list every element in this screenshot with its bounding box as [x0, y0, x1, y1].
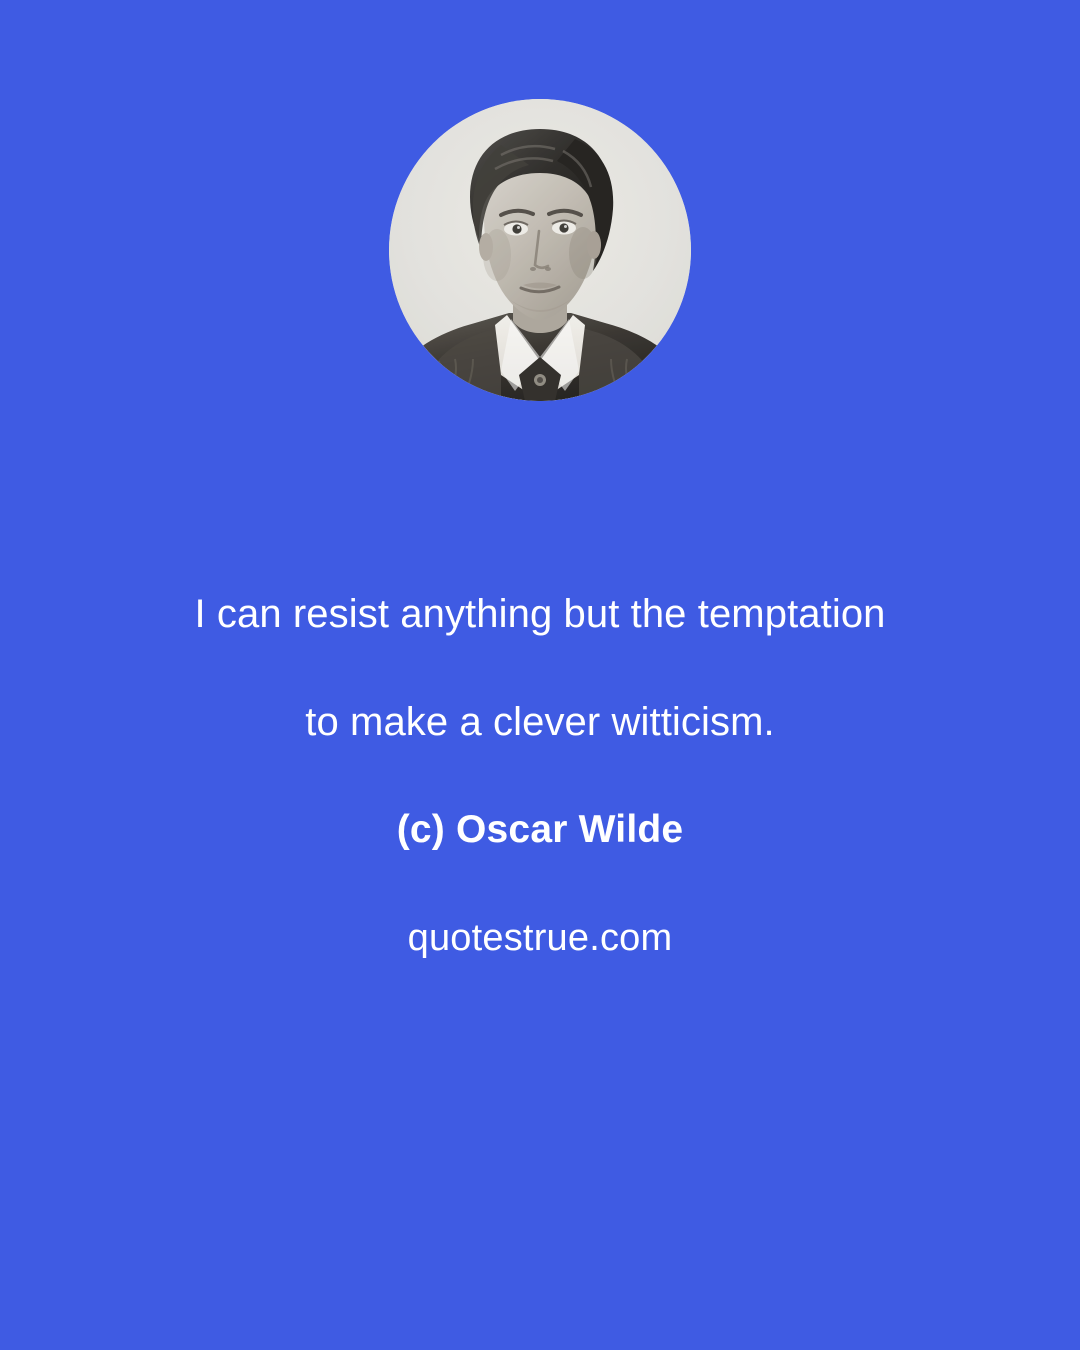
source-website: quotestrue.com [0, 884, 1080, 992]
quote-line-2: to make a clever witticism. [0, 668, 1080, 776]
quote-text-block: I can resist anything but the temptation… [0, 560, 1080, 992]
quote-card: I can resist anything but the temptation… [0, 0, 1080, 1350]
author-portrait [389, 99, 691, 401]
oscar-wilde-portrait-image [389, 99, 691, 401]
quote-line-1: I can resist anything but the temptation [0, 560, 1080, 668]
author-attribution: (c) Oscar Wilde [0, 776, 1080, 884]
